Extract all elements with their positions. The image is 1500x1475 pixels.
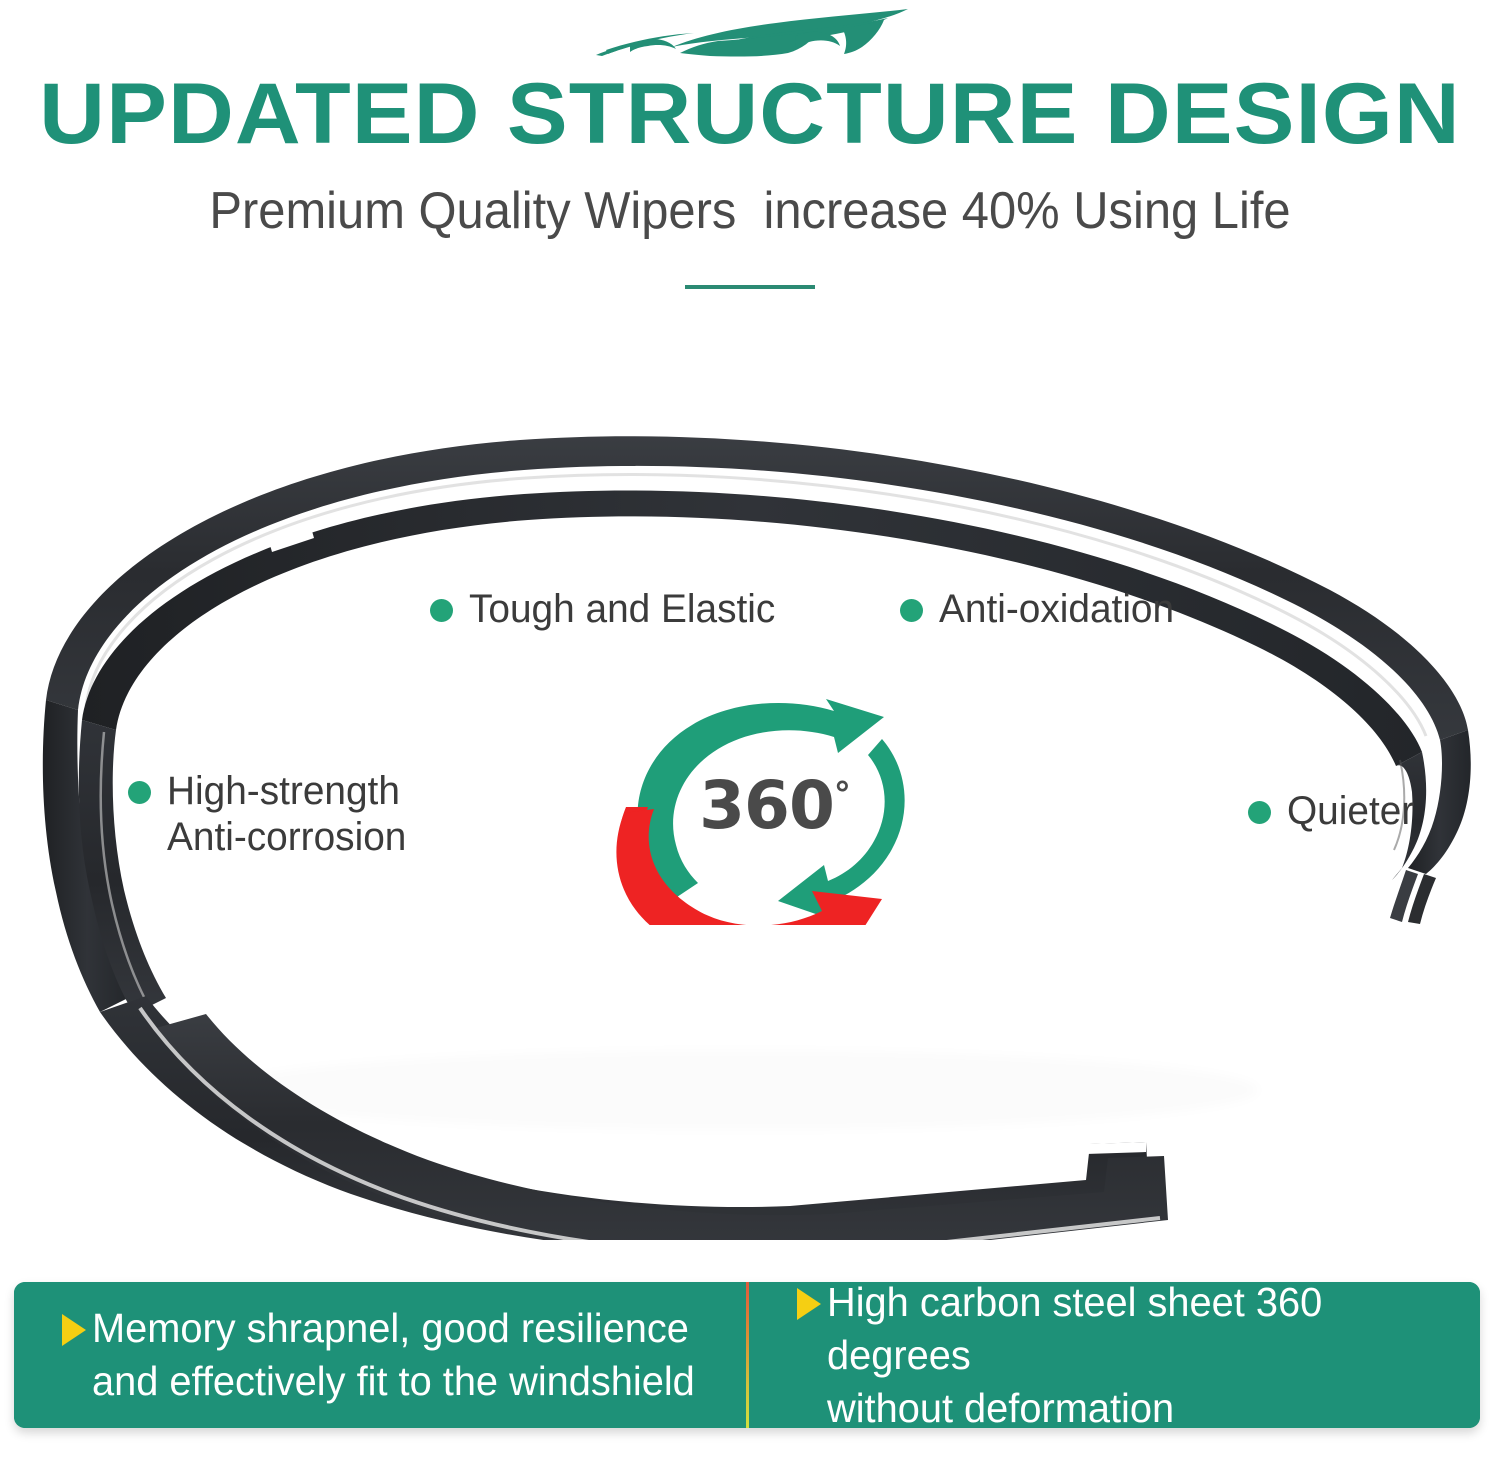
- bullet-dot-icon: [900, 599, 923, 622]
- banner-high-carbon-steel: High carbon steel sheet 360 degrees with…: [749, 1282, 1481, 1428]
- page-title: UPDATED STRUCTURE DESIGN: [0, 66, 1500, 162]
- feature-label: Tough and Elastic: [469, 586, 775, 632]
- banner-text: Memory shrapnel, good resilience and eff…: [92, 1302, 695, 1408]
- bullet-dot-icon: [430, 599, 453, 622]
- banner-text: High carbon steel sheet 360 degrees with…: [827, 1282, 1461, 1428]
- header: UPDATED STRUCTURE DESIGN Premium Quality…: [0, 0, 1500, 310]
- bullet-dot-icon: [128, 781, 151, 804]
- degree-symbol: °: [834, 775, 851, 815]
- bullet-dot-icon: [1248, 801, 1271, 824]
- title-underline-divider: [685, 285, 815, 289]
- car-silhouette-logo-icon: [590, 4, 910, 70]
- feature-label: Anti-oxidation: [939, 586, 1174, 632]
- badge-value: 360: [699, 767, 834, 844]
- banner-memory-shrapnel: Memory shrapnel, good resilience and eff…: [14, 1282, 746, 1428]
- feature-label: High-strength Anti-corrosion: [167, 768, 406, 860]
- triangle-right-icon: [62, 1314, 86, 1346]
- feature-high-strength-anti-corrosion: High-strength Anti-corrosion: [128, 768, 414, 860]
- feature-tough-and-elastic: Tough and Elastic: [430, 586, 785, 632]
- triangle-right-icon: [797, 1288, 821, 1320]
- feature-quieter: Quieter: [1248, 788, 1418, 834]
- bottom-banner-row: Memory shrapnel, good resilience and eff…: [14, 1282, 1480, 1428]
- feature-label: Quieter: [1287, 788, 1414, 834]
- page-subtitle: Premium Quality Wipers increase 40% Usin…: [45, 178, 1455, 244]
- badge-360-text: 360°: [582, 759, 962, 842]
- feature-anti-oxidation: Anti-oxidation: [900, 586, 1181, 632]
- rotation-360-badge: 360°: [582, 695, 962, 925]
